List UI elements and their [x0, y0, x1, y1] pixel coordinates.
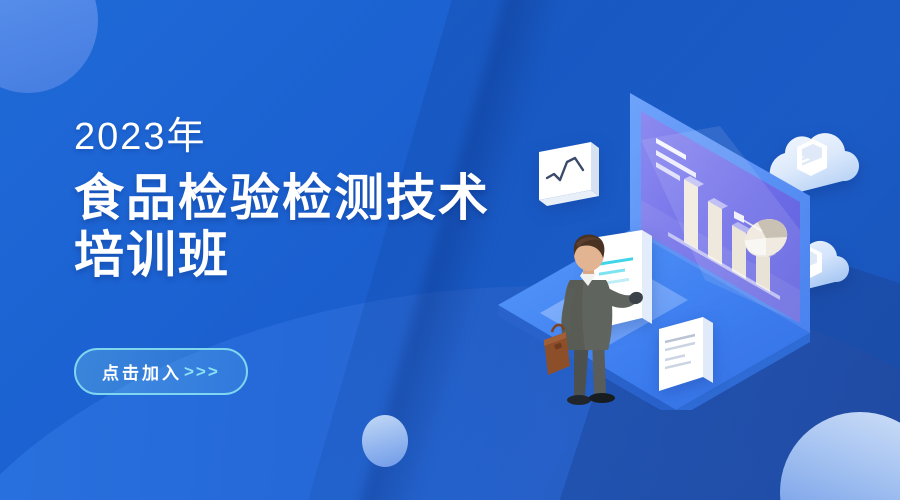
document-card-small — [655, 315, 725, 406]
headline-line-1: 食品检验检测技术 — [74, 170, 490, 227]
headline-line-2: 培训班 — [74, 227, 490, 284]
businessman-with-briefcase — [532, 228, 652, 423]
illustration — [470, 60, 900, 460]
page-title: 食品检验检测技术 培训班 — [74, 170, 490, 284]
join-button[interactable]: 点击加入 >>> — [74, 348, 248, 395]
decorative-circle-top-left — [0, 0, 98, 93]
year-label: 2023年 — [74, 118, 490, 156]
decorative-circle-bottom-center — [362, 415, 408, 467]
promo-banner: 2023年 食品检验检测技术 培训班 点击加入 >>> — [0, 0, 900, 500]
line-chart-card — [535, 140, 607, 217]
headline-block: 2023年 食品检验检测技术 培训班 — [74, 118, 490, 284]
chevron-right-triple-icon: >>> — [184, 362, 220, 382]
join-button-label: 点击加入 — [102, 359, 182, 384]
